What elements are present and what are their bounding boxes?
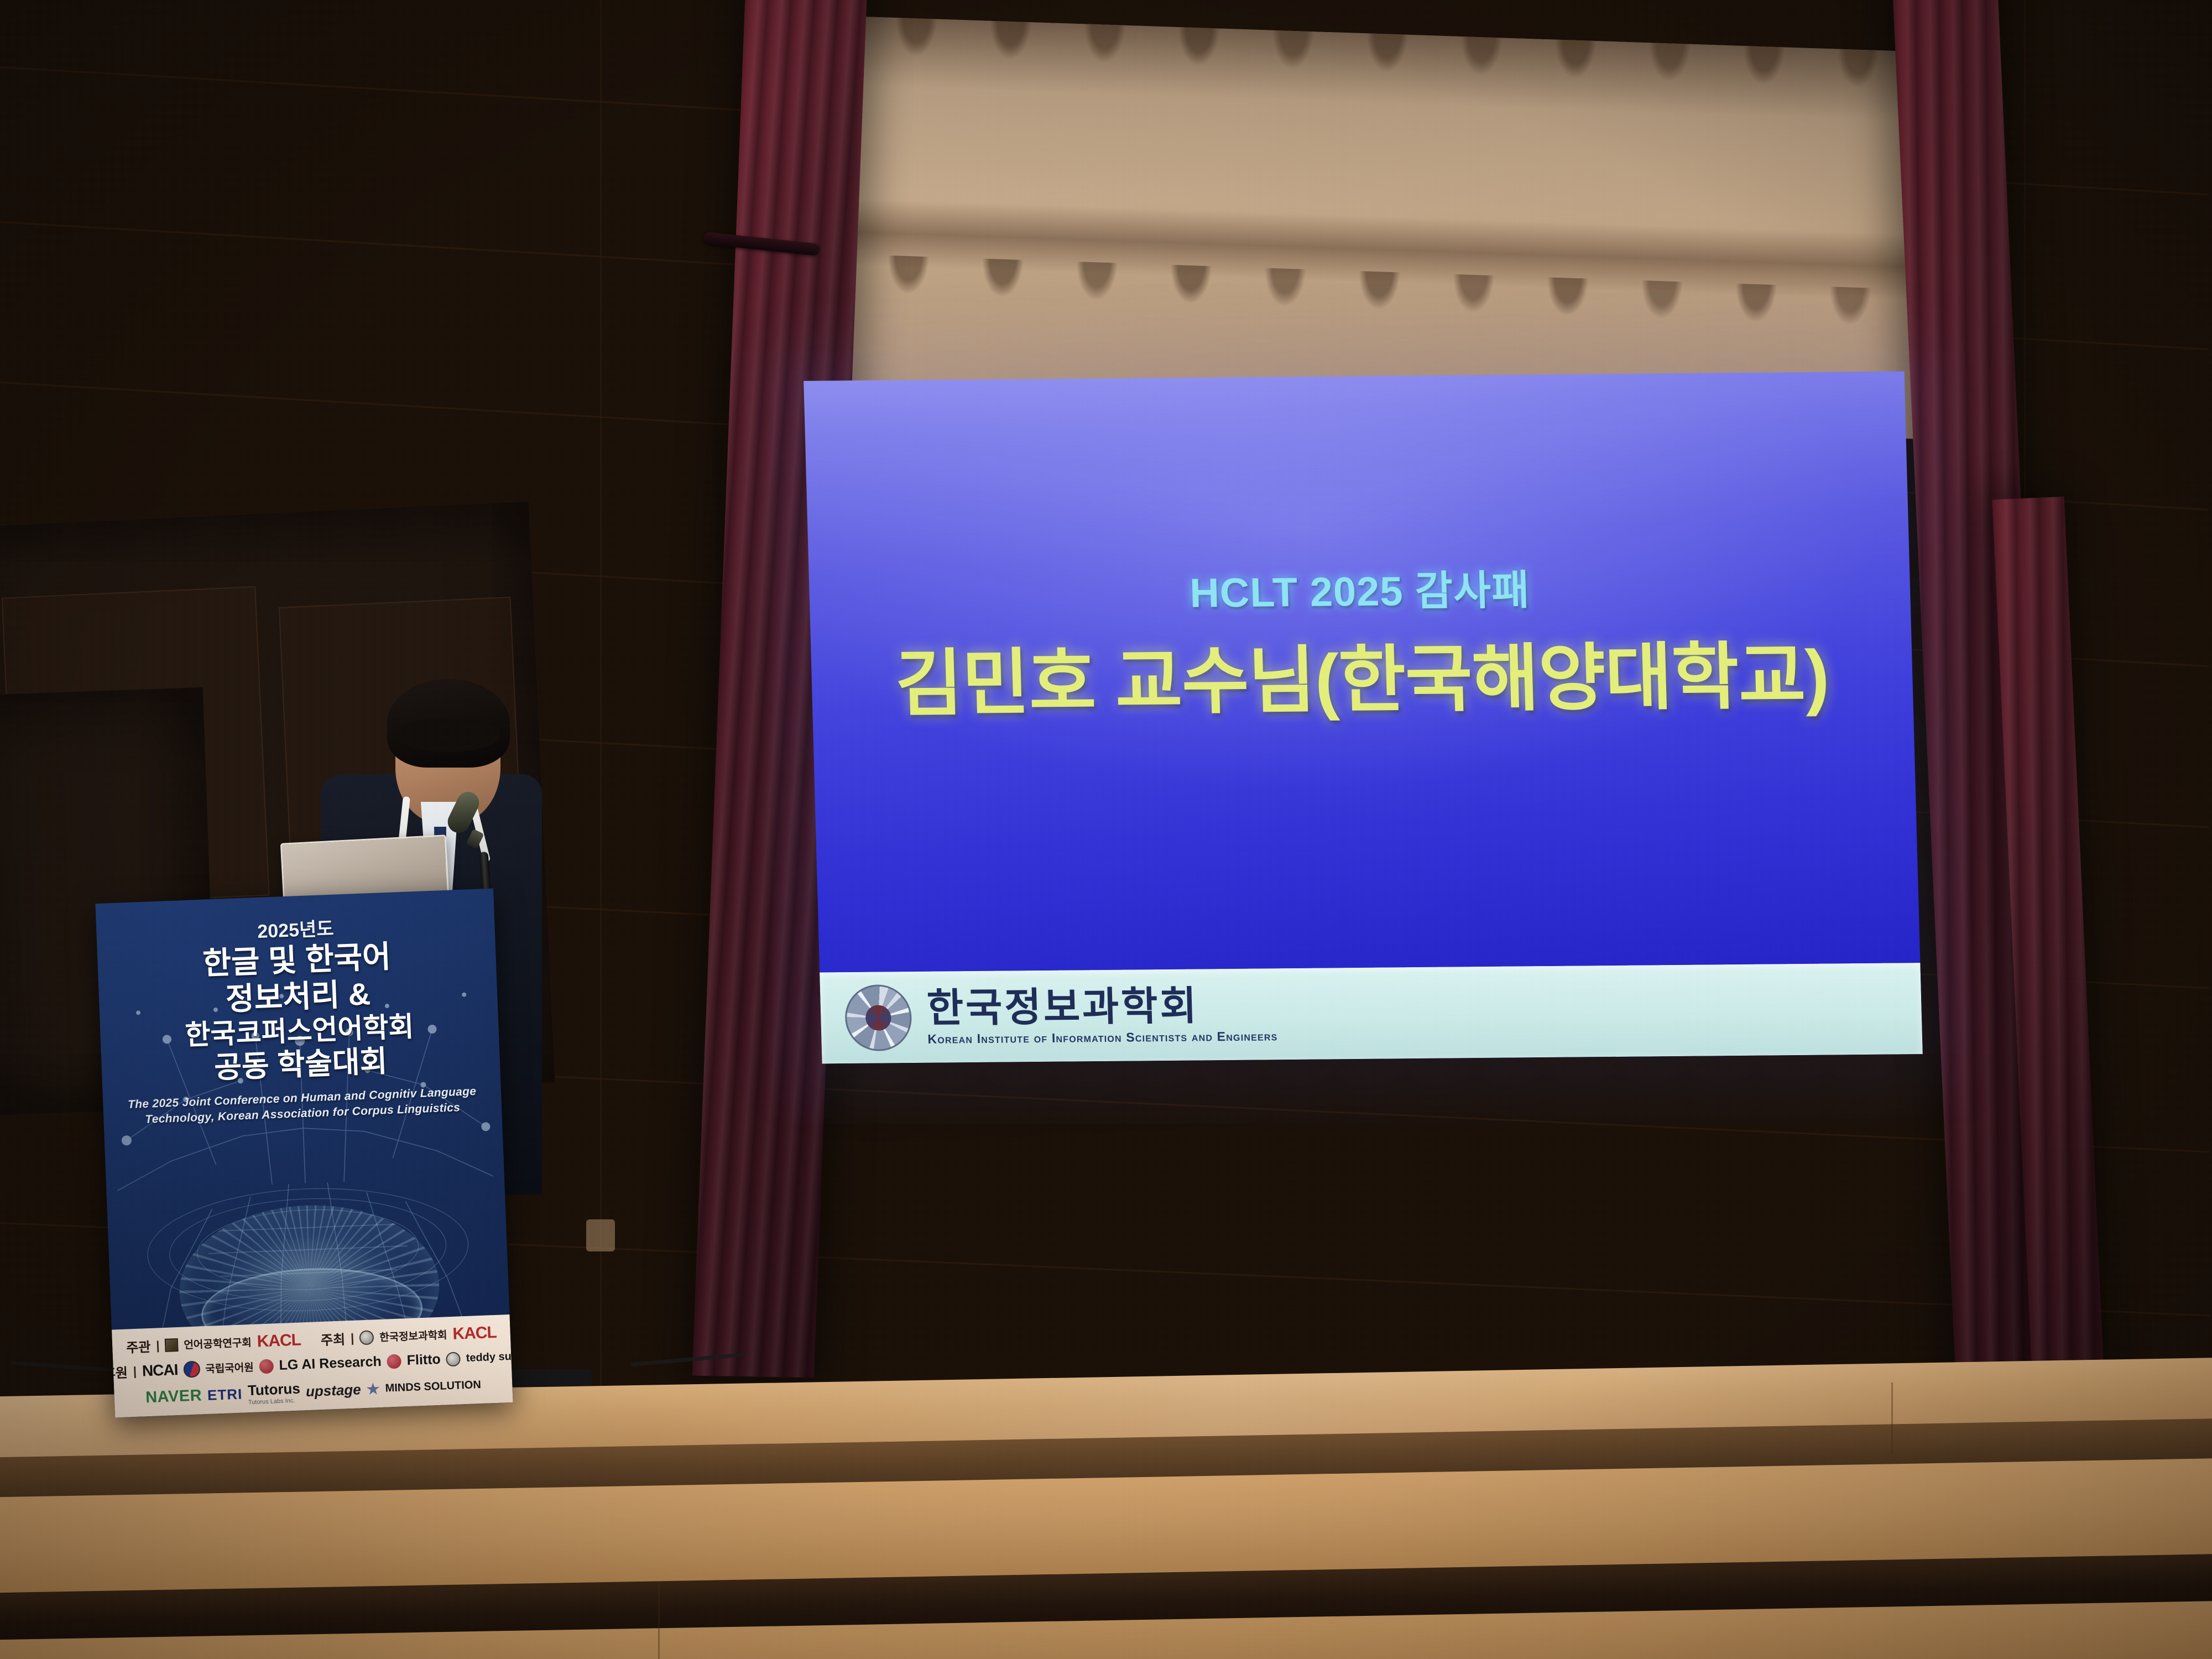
tutorus-sub: Tutorus Labs Inc. — [248, 1397, 301, 1406]
sponsor-name-minds: MINDS SOLUTION — [385, 1380, 481, 1394]
projection-screen[interactable]: HCLT 2025 감사패 김민호 교수님(한국해양대학교) 한국정보과학회 K… — [804, 372, 1923, 1064]
sponsor-name-teddysum: teddy sum — [466, 1351, 513, 1364]
slide-footer-band: 한국정보과학회 Korean Institute of Information … — [820, 963, 1923, 1063]
podium-banner-panel: 2025년도 한글 및 한국어 정보처리 & 한국코퍼스언어학회 공동 학술대회… — [95, 889, 513, 1418]
stage-panel-seam — [658, 1582, 660, 1659]
flitto-icon — [387, 1354, 401, 1369]
separator: | — [133, 1364, 137, 1378]
sponsor-name-kacl-2: KACL — [452, 1323, 497, 1343]
stage-panel-seam — [1891, 1383, 1893, 1454]
sponsor-name-lg: LG AI Research — [279, 1354, 382, 1374]
sponsor-name-tutorus: Tutorus Tutorus Labs Inc. — [247, 1380, 300, 1406]
podium-text-block: 2025년도 한글 및 한국어 정보처리 & 한국코퍼스언어학회 공동 학술대회… — [96, 907, 502, 1129]
kiise-text-block: 한국정보과학회 Korean Institute of Information … — [926, 985, 1278, 1045]
separator: | — [156, 1338, 160, 1353]
korean-government-icon — [183, 1360, 200, 1378]
teddysum-icon — [446, 1352, 461, 1366]
sponsor-name-ncai: NCAI — [142, 1361, 178, 1380]
slide-title-group: HCLT 2025 감사패 김민호 교수님(한국해양대학교) — [808, 554, 1913, 731]
sponsor-name-naver: NAVER — [145, 1386, 202, 1407]
sponsor-name-kacl-1: KACL — [257, 1331, 301, 1351]
kiise-pinwheel-logo — [844, 984, 912, 1051]
kiise-korean-name: 한국정보과학회 — [926, 985, 1277, 1028]
slide-headline-text: 김민호 교수님(한국해양대학교) — [810, 616, 1913, 731]
kiise-icon — [359, 1330, 374, 1345]
tutorus-main: Tutorus — [247, 1380, 300, 1399]
organizer-label: 주관 — [126, 1336, 150, 1357]
sponsor-name-nikl: 국립국어원 — [205, 1359, 254, 1376]
lg-icon — [259, 1359, 274, 1374]
podium-with-banner: 2025년도 한글 및 한국어 정보처리 & 한국코퍼스언어학회 공동 학술대회… — [95, 889, 513, 1418]
sponsor-name-etri: ETRI — [207, 1386, 242, 1404]
slide-surface: HCLT 2025 감사패 김민호 교수님(한국해양대학교) 한국정보과학회 K… — [804, 372, 1923, 1064]
klt-society-icon — [165, 1338, 179, 1352]
sponsor-name-klt: 언어공학연구회 — [184, 1334, 252, 1352]
minds-icon — [366, 1383, 380, 1396]
conference-photo-scene: HCLT 2025 감사패 김민호 교수님(한국해양대학교) 한국정보과학회 K… — [0, 0, 2212, 1659]
kiise-english-name: Korean Institute of Information Scientis… — [927, 1030, 1278, 1046]
speaker-hair-fringe — [397, 719, 500, 752]
slide-eyebrow-text: HCLT 2025 감사패 — [808, 554, 1911, 622]
sponsor-name-upstage: upstage — [305, 1381, 361, 1400]
sponsor-name-flitto: Flitto — [406, 1352, 441, 1369]
separator: | — [351, 1331, 354, 1345]
wall-plate — [586, 1219, 615, 1251]
host-label: 주최 — [320, 1328, 345, 1349]
sponsor-strip: 주관 | 언어공학연구회 KACL 주최 | 한국정보과학회 KACL 후원 |… — [112, 1314, 513, 1418]
sponsor-name-kiise: 한국정보과학회 — [379, 1327, 447, 1344]
